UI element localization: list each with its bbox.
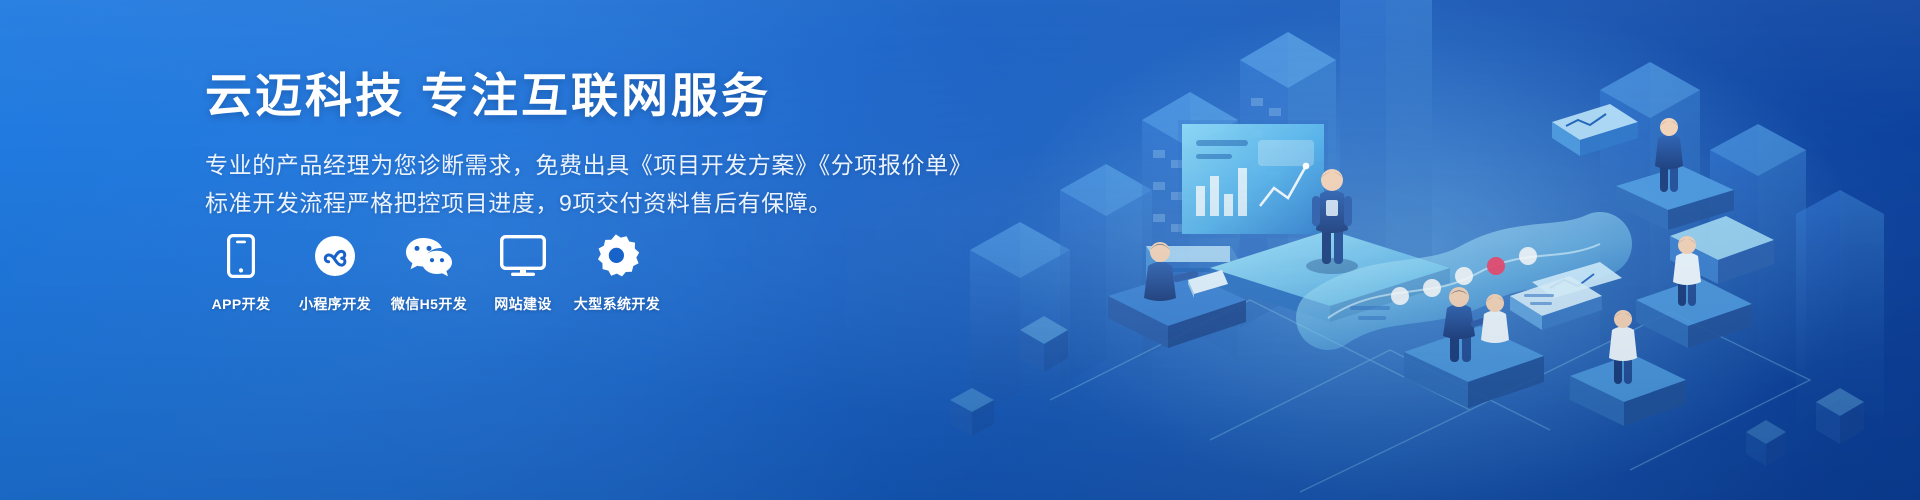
service-item-wechat-h5[interactable]: 微信H5开发	[393, 232, 465, 314]
banner-subtitle-block: 专业的产品经理为您诊断需求，免费出具《项目开发方案》《分项报价单》 标准开发流程…	[205, 147, 895, 222]
background-glow-right	[845, 0, 1843, 500]
data-ribbon	[1328, 244, 1622, 320]
banner-subtitle-line-2: 标准开发流程严格把控项目进度，9项交付资料售后有保障。	[205, 185, 895, 222]
mini-program-icon	[314, 232, 356, 280]
device-screen-small	[1510, 276, 1602, 330]
seated-figure-lower-left	[1404, 287, 1544, 408]
hero-banner: 云迈科技 专注互联网服务 专业的产品经理为您诊断需求，免费出具《项目开发方案》《…	[0, 0, 1920, 500]
service-label-mini-program: 小程序开发	[299, 294, 371, 314]
standing-figure-lower-right	[1570, 310, 1686, 426]
seated-figure-right-lower	[1636, 236, 1752, 348]
seated-figure-with-laptop	[1108, 242, 1246, 348]
service-item-mini-program[interactable]: 小程序开发	[299, 232, 371, 314]
floating-chart-card	[1552, 104, 1638, 156]
service-label-website: 网站建设	[494, 294, 552, 314]
dashboard-screen	[1178, 120, 1328, 276]
service-icon-row: APP开发 小程序开发	[205, 232, 675, 314]
desktop-monitor-icon	[500, 232, 546, 280]
service-label-large-system: 大型系统开发	[574, 294, 660, 314]
service-item-app[interactable]: APP开发	[205, 232, 277, 314]
service-label-wechat-h5: 微信H5开发	[391, 294, 467, 314]
standing-figure-on-platform	[1210, 169, 1450, 322]
floating-cubes	[950, 316, 1864, 466]
gear-icon	[595, 232, 639, 280]
isometric-tech-workspace-illustration	[910, 0, 1920, 500]
standing-figure-right	[1616, 118, 1734, 230]
service-label-app: APP开发	[212, 294, 271, 314]
banner-headline: 云迈科技 专注互联网服务	[205, 68, 895, 123]
ground-grid	[1050, 300, 1810, 492]
mobile-phone-icon	[227, 232, 255, 280]
banner-text-column: 云迈科技 专注互联网服务 专业的产品经理为您诊断需求，免费出具《项目开发方案》《…	[205, 68, 895, 222]
skyline-towers	[970, 0, 1884, 424]
wechat-icon	[405, 232, 453, 280]
banner-subtitle-line-1: 专业的产品经理为您诊断需求，免费出具《项目开发方案》《分项报价单》	[205, 147, 895, 184]
chart-card-stack	[1146, 246, 1240, 300]
service-item-website[interactable]: 网站建设	[487, 232, 559, 314]
right-box-stack	[1670, 216, 1774, 284]
service-item-large-system[interactable]: 大型系统开发	[581, 232, 653, 314]
